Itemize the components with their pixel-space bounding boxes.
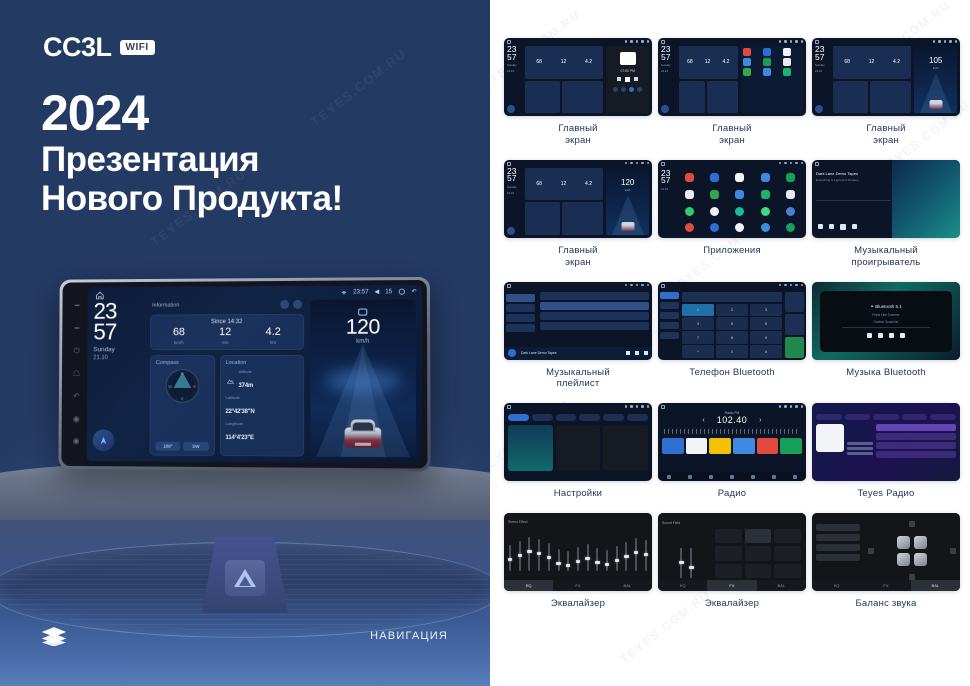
preset-row[interactable] [816, 544, 860, 551]
previous-station-icon[interactable]: ‹ [702, 417, 704, 424]
preset-button[interactable] [715, 529, 742, 543]
teyes-tab[interactable] [902, 414, 928, 420]
preset-buttons[interactable] [715, 529, 801, 578]
search-icon[interactable] [660, 312, 679, 319]
fader-right[interactable] [690, 548, 692, 578]
navigation-fab-button[interactable] [661, 105, 669, 113]
next-icon[interactable] [852, 224, 857, 229]
previous-icon[interactable] [626, 351, 630, 355]
balance-presets[interactable] [812, 521, 864, 580]
compass-readout: 180° SW [155, 442, 208, 451]
thumbnail-image[interactable]: 123456789*0# [658, 282, 806, 360]
home-icon[interactable] [815, 162, 819, 166]
eq-slider[interactable] [567, 551, 569, 571]
eq-slider[interactable] [577, 547, 579, 571]
app-icon[interactable] [685, 207, 694, 216]
thumbnail-caption: Баланс звука [856, 598, 917, 610]
audio-tabs[interactable]: EQ FX BAL [504, 580, 652, 591]
head-unit-side-keys[interactable]: ━ ━ ⏻ ☖ ↶ ◉ ◉ [65, 287, 88, 461]
navigation-fab-button[interactable] [93, 429, 115, 451]
thumbnail-bluetooth-music[interactable]: ⚭ Bluetooth 5.1 Feels Like Summer Carbon… [812, 282, 960, 400]
eq-slider[interactable] [635, 538, 637, 571]
mini-location-widget[interactable] [870, 81, 912, 113]
eq-slider[interactable] [606, 550, 608, 571]
navigation-fab-button[interactable] [507, 105, 515, 113]
teyes-tab[interactable] [845, 414, 871, 420]
tab-effects[interactable]: FX [553, 580, 602, 591]
band-icon[interactable] [730, 475, 734, 479]
app-icon[interactable] [735, 207, 744, 216]
home-icon[interactable] [507, 284, 511, 288]
previous-icon[interactable] [617, 77, 621, 81]
app-icon[interactable] [761, 207, 770, 216]
album-art [508, 349, 516, 357]
progress-bar[interactable] [816, 200, 891, 202]
preset-button[interactable] [715, 546, 742, 560]
preset-row[interactable] [816, 554, 860, 561]
settings-tab[interactable] [603, 414, 624, 421]
eq-slider[interactable] [616, 546, 618, 571]
thumbnail-image[interactable]: 23 57 Sunday 21.10 68 12 4.2 105 km/h [812, 38, 960, 116]
thumbnail-image[interactable]: 23 57 21.10 [658, 160, 806, 238]
app-icon[interactable] [743, 58, 751, 66]
balance-left-button[interactable] [868, 548, 874, 554]
phone-actions[interactable] [785, 292, 804, 358]
thumbnail-bluetooth-phone[interactable]: 123456789*0# Телефон Bluetooth [658, 282, 806, 400]
station-preset[interactable] [757, 438, 779, 454]
back-arrow-icon [647, 40, 650, 43]
volume-down-key[interactable]: ━ [74, 325, 79, 333]
mini-status-bar [779, 405, 804, 408]
radio-toolbar[interactable] [658, 472, 806, 481]
play-pause-icon[interactable] [878, 333, 883, 338]
teyes-tab[interactable] [930, 414, 956, 420]
mini-location-widget[interactable] [562, 81, 604, 113]
app-icon[interactable] [685, 223, 694, 232]
app-icon[interactable] [710, 173, 719, 182]
mini-compass-widget[interactable] [525, 202, 560, 234]
camera-icon [795, 284, 798, 287]
search-icon[interactable] [688, 475, 692, 479]
mini-information-card[interactable]: 68 12 4.2 [833, 46, 911, 79]
camera-icon [641, 40, 644, 43]
home-icon[interactable] [667, 475, 671, 479]
app-icon[interactable] [763, 68, 771, 76]
previous-icon[interactable] [829, 224, 834, 229]
app-icon[interactable] [786, 223, 795, 232]
camera-icon [641, 284, 644, 287]
tab-equalizer[interactable]: EQ [812, 580, 861, 591]
head-unit-device: ━ ━ ⏻ ☖ ↶ ◉ ◉ 23:57 [58, 277, 430, 472]
call-log-icon[interactable] [660, 322, 679, 329]
eq-slider[interactable] [519, 541, 521, 571]
station-preset[interactable] [686, 438, 708, 454]
eq-slider[interactable] [645, 540, 647, 571]
balance-front-button[interactable] [909, 521, 915, 527]
clock-weekday: Sunday [93, 347, 144, 355]
settings-icon[interactable] [660, 332, 679, 339]
expand-icon[interactable] [293, 300, 302, 309]
wifi-settings-card[interactable] [508, 425, 553, 471]
clock-icon [784, 405, 787, 408]
stop-icon[interactable] [889, 333, 894, 338]
sidebar-item[interactable] [506, 294, 535, 302]
contacts-icon[interactable] [660, 302, 679, 309]
thumbnail-caption: Главный экран [866, 123, 905, 147]
app-icon[interactable] [763, 48, 771, 56]
thumbnail-image[interactable]: Stereo Effect EQ FX BAL [504, 513, 652, 591]
thumbnail-teyes-radio[interactable]: Teyes Радио [812, 403, 960, 509]
bt-controls[interactable] [867, 333, 905, 338]
equalizer-sliders[interactable] [504, 529, 652, 571]
drive-speed-panel[interactable]: 120 km/h [310, 299, 416, 457]
app-icon[interactable] [786, 173, 795, 182]
eq-slider[interactable] [548, 543, 550, 571]
mini-information-card[interactable]: 68 12 4.2 [525, 46, 603, 79]
station-info [847, 424, 873, 472]
eq-slider[interactable] [509, 545, 511, 571]
next-icon[interactable] [634, 77, 638, 81]
app-icon[interactable] [735, 173, 744, 182]
home-icon[interactable] [661, 162, 665, 166]
camera-icon [949, 40, 952, 43]
preset-row[interactable] [816, 534, 860, 541]
list-icon[interactable] [709, 475, 713, 479]
app-icon[interactable] [783, 68, 791, 76]
sidebar-item[interactable] [506, 314, 535, 322]
back-arrow-icon [801, 162, 804, 165]
settings-icon[interactable] [772, 475, 776, 479]
mini-app-shortcuts[interactable] [741, 46, 803, 113]
camera-icon[interactable] [398, 288, 405, 295]
location-widget[interactable]: Location Altitude 374m [219, 355, 304, 457]
power-key[interactable]: ⏻ [74, 347, 80, 355]
thumbnail-music-player[interactable]: Dark Lane Demo Tapes Everything Is Light… [812, 160, 960, 278]
thumbnail-equalizer-presets[interactable]: Sound Field EQ FX BALЭквалайзер [658, 513, 806, 619]
thumbnail-image[interactable] [812, 403, 960, 481]
settings-tab[interactable] [627, 414, 648, 421]
bluetooth-player-card[interactable]: ⚭ Bluetooth 5.1 Feels Like Summer Carbon… [820, 291, 952, 352]
seat-positions[interactable] [897, 536, 927, 566]
presentation-slide: TEYES.COM.RU TEYES.COM.RU TEYES.COM.RU T… [0, 0, 970, 686]
mic-key[interactable]: ◉ [73, 415, 80, 423]
preset-button[interactable] [774, 564, 801, 578]
trip-stat-unit: min [219, 340, 231, 345]
grid-icon[interactable] [793, 475, 797, 479]
settings-tab[interactable] [508, 414, 529, 421]
seat[interactable] [914, 536, 927, 549]
app-icon[interactable] [743, 48, 751, 56]
eq-slider[interactable] [528, 537, 530, 571]
mini-clock-weekday: Sunday [815, 63, 830, 67]
station-preset[interactable] [709, 438, 731, 454]
backspace-icon[interactable] [785, 314, 804, 335]
sidebar-item[interactable] [506, 304, 535, 312]
volume-icon [790, 284, 793, 287]
dial-key[interactable]: # [750, 345, 783, 357]
home-icon[interactable] [661, 284, 665, 288]
seat[interactable] [897, 553, 910, 566]
thumbnail-home-screen-media[interactable]: 23 57 Sunday 21.10 68 12 4.2 07:50 PM [504, 38, 652, 156]
eq-slider[interactable] [558, 549, 560, 571]
settings-tab[interactable] [579, 414, 600, 421]
dial-key[interactable]: 8 [716, 331, 749, 343]
mini-location-widget[interactable] [562, 202, 604, 234]
application-grid[interactable] [674, 168, 806, 238]
settings-tab[interactable] [532, 414, 553, 421]
thumbnail-image[interactable] [504, 403, 652, 481]
head-unit-screen[interactable]: 23:57 ◀ 15 ↶ 23 57 Sunday 21.10 [87, 285, 423, 463]
app-icon[interactable] [685, 173, 694, 182]
wifi-badge: WIFI [120, 40, 155, 55]
app-icon[interactable] [761, 173, 770, 182]
home-key[interactable]: ☖ [73, 370, 80, 378]
next-icon[interactable] [900, 333, 905, 338]
seat[interactable] [914, 553, 927, 566]
display-settings-card[interactable] [556, 425, 601, 471]
mini-clock-weekday: Sunday [507, 185, 522, 189]
trip-stat-value: 12 [219, 327, 231, 338]
app-icon[interactable] [710, 223, 719, 232]
thumbnail-settings[interactable]: Настройки [504, 403, 652, 509]
preset-stations[interactable] [658, 434, 806, 454]
layers-icon[interactable] [41, 626, 67, 646]
eq-slider[interactable] [538, 539, 540, 571]
app-icon[interactable] [783, 58, 791, 66]
shuffle-icon[interactable] [613, 87, 618, 92]
sidebar-item[interactable] [506, 324, 535, 332]
mini-compass-widget[interactable] [679, 81, 705, 113]
eq-slider[interactable] [625, 542, 627, 571]
preset-button[interactable] [774, 529, 801, 543]
dial-key[interactable]: 0 [716, 345, 749, 357]
app-icon[interactable] [763, 58, 771, 66]
clock-column: 23 57 Sunday 21.10 [93, 301, 145, 456]
volume-icon [636, 405, 639, 408]
thumbnail-radio[interactable]: Radio FM ‹ 102.40 › Радио [658, 403, 806, 509]
list-icon[interactable] [637, 87, 642, 92]
dial-key[interactable]: 2 [716, 304, 749, 316]
audio-tabs[interactable]: EQ FX BAL [658, 580, 806, 591]
station-row[interactable] [876, 424, 956, 431]
teyes-tab[interactable] [873, 414, 899, 420]
track-row[interactable] [540, 302, 649, 310]
scan-icon[interactable] [751, 475, 755, 479]
now-playing-bar[interactable]: Dark Lane Demo Tapes [504, 347, 652, 360]
tab-equalizer[interactable]: EQ [504, 580, 553, 591]
station-preset[interactable] [780, 438, 802, 454]
tab-balance[interactable]: BAL [757, 580, 806, 591]
call-icon[interactable] [785, 337, 804, 358]
settings-tabs[interactable] [504, 411, 652, 421]
thumbnail-home-screen-drive[interactable]: 23 57 Sunday 21.10 68 12 4.2 105 km/h Гл… [812, 38, 960, 156]
thumbnail-image[interactable]: 23 57 Sunday 21.10 68 12 4.2 120 km/h [504, 160, 652, 238]
volume-icon [636, 40, 639, 43]
mini-media-panel[interactable]: 07:50 PM [606, 46, 649, 113]
navigation-fab-button[interactable] [815, 105, 823, 113]
preset-button[interactable] [745, 564, 772, 578]
thumbnail-image[interactable]: ⚭ Bluetooth 5.1 Feels Like Summer Carbon… [812, 282, 960, 360]
eq-preset-label: Stereo Effect [508, 520, 528, 524]
thumbnail-caption: Главный экран [558, 245, 597, 269]
home-icon[interactable] [661, 405, 665, 409]
app-icon[interactable] [743, 68, 751, 76]
next-station-icon[interactable]: › [759, 417, 761, 424]
hud-icon [358, 309, 367, 316]
back-key[interactable]: ↶ [73, 393, 80, 401]
audio-tabs[interactable]: EQ FX BAL [812, 580, 960, 591]
thumbnail-image[interactable]: 23 57 Sunday 21.10 68 12 4.2 07:50 PM [504, 38, 652, 116]
preset-button[interactable] [774, 546, 801, 560]
track-row[interactable] [540, 312, 649, 320]
next-icon[interactable] [644, 351, 648, 355]
dialpad-icon[interactable] [660, 292, 679, 299]
app-icon[interactable] [761, 190, 770, 199]
thumbnail-image[interactable]: 23 57 Sunday 21.10 68 12 4.2 [658, 38, 806, 116]
thumbnail-image[interactable]: Radio FM ‹ 102.40 › [658, 403, 806, 481]
eq-slider[interactable] [596, 548, 598, 571]
favorite-icon[interactable] [785, 292, 804, 313]
dial-key[interactable]: 1 [682, 304, 715, 316]
longitude-label: Longitude [225, 421, 298, 426]
trip-since-label: Since 14:32 [156, 319, 298, 326]
phone-number-field[interactable] [682, 292, 783, 302]
thumbnail-equalizer-bars[interactable]: Stereo Effect EQ FX BALЭквалайзер [504, 513, 652, 619]
thumbnail-home-screen-speed[interactable]: 23 57 Sunday 21.10 68 12 4.2 120 km/h Гл… [504, 160, 652, 278]
mini-compass-widget[interactable] [833, 81, 868, 113]
thumbnail-home-screen-apps[interactable]: 23 57 Sunday 21.10 68 12 4.2 Главный экр… [658, 38, 806, 156]
dial-key[interactable]: 9 [750, 331, 783, 343]
preset-button[interactable] [745, 529, 772, 543]
dial-key[interactable]: 4 [682, 317, 715, 329]
thumbnail-image[interactable]: Sound Field EQ FX BAL [658, 513, 806, 591]
volume-up-key[interactable]: ━ [75, 303, 80, 311]
fader-left[interactable] [680, 548, 682, 578]
thumbnail-caption: Эквалайзер [705, 598, 759, 610]
thumbnail-image[interactable]: Dark Lane Demo Tapes [504, 282, 652, 360]
preset-button[interactable] [715, 564, 742, 578]
media-quick-actions[interactable] [606, 87, 649, 92]
back-arrow-icon[interactable]: ↶ [412, 288, 417, 295]
app-icon[interactable] [735, 190, 744, 199]
station-preset[interactable] [662, 438, 684, 454]
trip-information-card[interactable]: Since 14:32 68 km/h 12 min [150, 314, 304, 350]
progress-bar[interactable] [842, 327, 929, 329]
mini-compass-widget[interactable] [525, 81, 560, 113]
dial-key[interactable]: * [682, 345, 715, 357]
app-icon[interactable] [735, 223, 744, 232]
home-icon[interactable] [96, 291, 105, 300]
dial-pad[interactable]: 123456789*0# [682, 304, 783, 358]
thumbnail-sound-balance[interactable]: EQ FX BALБаланс звука [812, 513, 960, 619]
thumbnail-image[interactable]: EQ FX BAL [812, 513, 960, 591]
fader-controls[interactable] [663, 529, 710, 578]
station-row[interactable] [876, 442, 956, 449]
mini-stat: 12 [561, 181, 567, 187]
eq-slider[interactable] [587, 544, 589, 571]
app-icon[interactable] [710, 190, 719, 199]
stop-icon[interactable] [625, 77, 630, 82]
more-settings-card[interactable] [603, 425, 648, 471]
thumbnail-caption: Телефон Bluetooth [689, 367, 775, 379]
app-icon[interactable] [685, 190, 694, 199]
compass-north: N [181, 371, 184, 376]
navigation-fab-button[interactable] [507, 227, 515, 235]
thumbnail-music-playlist[interactable]: Dark Lane Demo Tapes Музыкальный плейлис… [504, 282, 652, 400]
app-icon[interactable] [783, 48, 791, 56]
previous-icon[interactable] [867, 333, 872, 338]
compass-widget[interactable]: Compass N E S W 180° [150, 355, 215, 456]
balance-field[interactable] [864, 521, 960, 580]
shuffle-icon[interactable] [818, 224, 823, 229]
station-row[interactable] [876, 451, 956, 458]
phone-sidebar[interactable] [660, 292, 679, 358]
preset-button[interactable] [745, 546, 772, 560]
mini-information-card[interactable]: 68 12 4.2 [525, 168, 603, 201]
dial-key[interactable]: 6 [750, 317, 783, 329]
pause-icon[interactable] [635, 351, 639, 355]
station-row[interactable] [876, 433, 956, 440]
mini-information-card[interactable]: 68 12 4.2 [679, 46, 738, 79]
player-controls[interactable] [818, 224, 857, 230]
repeat-icon[interactable] [621, 87, 626, 92]
settings-cards[interactable] [504, 421, 652, 475]
mini-location-widget[interactable] [707, 81, 738, 113]
thumbnail-image[interactable]: Dark Lane Demo Tapes Everything Is Light… [812, 160, 960, 238]
hazard-light-button[interactable] [225, 560, 265, 596]
mini-clock-column: 23 57 Sunday 21.10 [661, 46, 676, 113]
app-icon[interactable] [786, 190, 795, 199]
station-list[interactable] [876, 424, 956, 472]
back-arrow-icon [955, 40, 958, 43]
tab-effects[interactable]: FX [861, 580, 910, 591]
dial-key[interactable]: 5 [716, 317, 749, 329]
app-icon[interactable] [710, 207, 719, 216]
like-icon[interactable] [629, 87, 634, 92]
information-header: Information [150, 300, 304, 310]
tab-balance[interactable]: BAL [911, 580, 960, 591]
seat[interactable] [897, 536, 910, 549]
home-icon[interactable] [507, 405, 511, 409]
mini-status-bar [779, 40, 804, 43]
pause-icon[interactable] [840, 224, 846, 230]
track-row[interactable] [540, 292, 649, 300]
settings-icon[interactable] [280, 300, 289, 309]
dial-key[interactable]: 7 [682, 331, 715, 343]
media-controls[interactable] [606, 77, 649, 82]
preset-row[interactable] [816, 524, 860, 531]
wifi-icon [933, 40, 936, 43]
tab-effects[interactable]: FX [707, 580, 756, 591]
mute-key[interactable]: ◉ [73, 438, 80, 446]
head-unit-bezel: ━ ━ ⏻ ☖ ↶ ◉ ◉ 23:57 [61, 280, 427, 469]
app-icon[interactable] [786, 207, 795, 216]
mini-drive-panel[interactable]: 105 km/h [914, 46, 957, 113]
mini-drive-panel[interactable]: 120 km/h [606, 168, 649, 235]
teyes-tabs[interactable] [812, 411, 960, 420]
thumbnail-applications[interactable]: 23 57 21.10 Приложения [658, 160, 806, 278]
app-icon[interactable] [761, 223, 770, 232]
balance-right-button[interactable] [950, 548, 956, 554]
settings-tab[interactable] [556, 414, 577, 421]
dial-key[interactable]: 3 [750, 304, 783, 316]
teyes-tab[interactable] [816, 414, 842, 420]
tab-equalizer[interactable]: EQ [658, 580, 707, 591]
station-preset[interactable] [733, 438, 755, 454]
tab-balance[interactable]: BAL [603, 580, 652, 591]
track-row[interactable] [540, 322, 649, 330]
track-artist: Carbon Sunshine [874, 320, 899, 324]
